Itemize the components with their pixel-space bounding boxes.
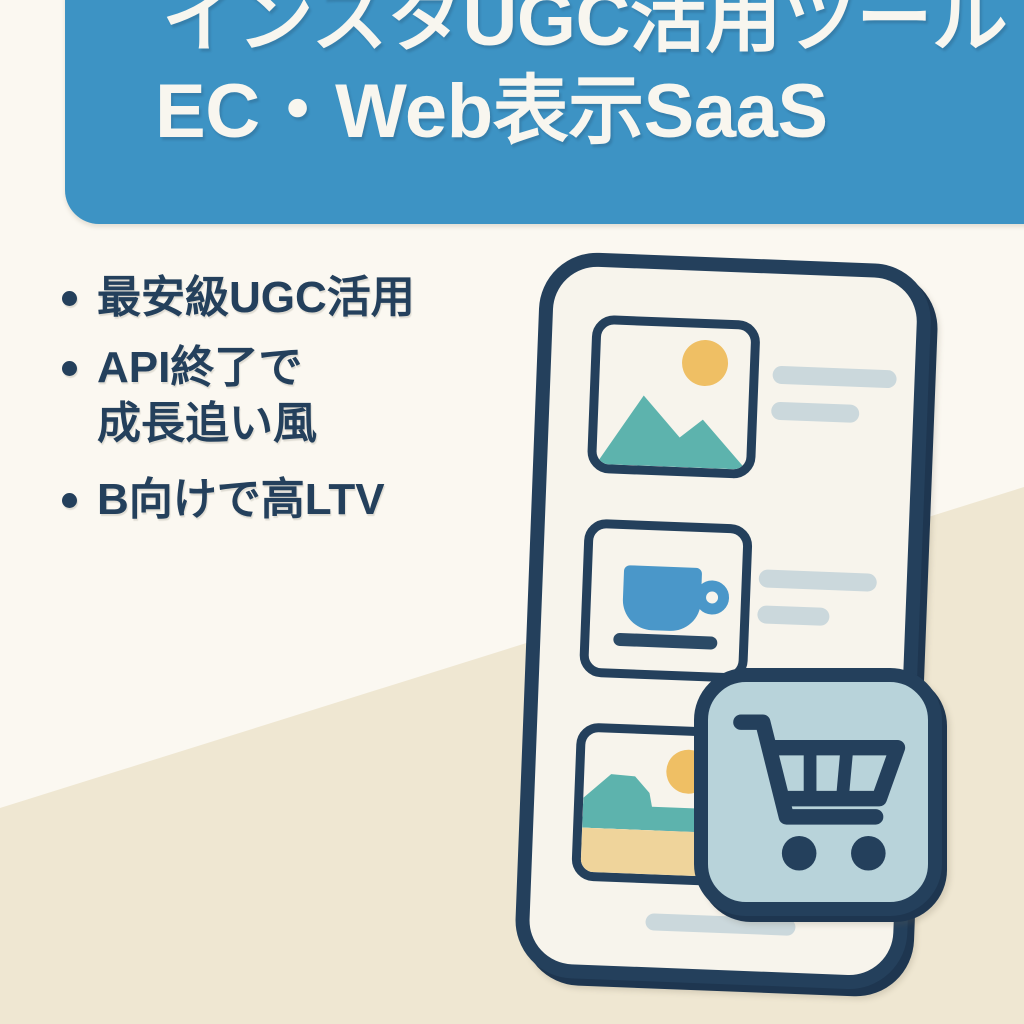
bullet-line: API終了で: [97, 340, 528, 396]
bullet-text: B向けで高LTV: [97, 472, 528, 528]
feature-bullet-list: 最安級UGC活用 API終了で 成長追い風 B向けで高LTV: [58, 270, 528, 542]
text-placeholder-bar: [757, 605, 830, 626]
bullet-dot-icon: [62, 493, 77, 508]
saucer-icon: [613, 633, 717, 650]
header-title-line1: インスタUGC活用ツール: [162, 0, 1024, 61]
bullet-text: 最安級UGC活用: [97, 270, 528, 326]
sun-icon: [681, 339, 729, 387]
mountain-icon: [596, 386, 749, 470]
coffee-cup-icon: [622, 565, 702, 632]
text-placeholder-bar: [771, 402, 860, 423]
list-item: 最安級UGC活用: [58, 270, 528, 326]
cart-wheel-icon: [782, 836, 817, 871]
bullet-text: API終了で 成長追い風: [97, 340, 528, 452]
bullet-dot-icon: [62, 361, 77, 376]
shopping-cart-badge: [694, 668, 942, 916]
feed-card-image-mountain: [587, 315, 761, 479]
shopping-cart-icon: [730, 704, 912, 886]
bullet-line: 成長追い風: [97, 396, 528, 452]
header-banner: インスタUGC活用ツール EC・Web表示SaaS: [65, 0, 1024, 224]
text-placeholder-bar: [772, 366, 897, 389]
list-item: API終了で 成長追い風: [58, 340, 528, 452]
header-title-line2: EC・Web表示SaaS: [155, 70, 1024, 153]
bullet-dot-icon: [62, 291, 77, 306]
feed-card-image-coffee: [579, 519, 753, 683]
text-placeholder-bar: [758, 569, 877, 592]
cart-wheel-icon: [851, 836, 886, 871]
poster-canvas: インスタUGC活用ツール EC・Web表示SaaS 最安級UGC活用 API終了…: [0, 0, 1024, 1024]
list-item: B向けで高LTV: [58, 472, 528, 528]
bullet-line: 最安級UGC活用: [97, 270, 528, 326]
bullet-line: B向けで高LTV: [97, 472, 528, 528]
bottom-placeholder-bar: [645, 913, 796, 936]
